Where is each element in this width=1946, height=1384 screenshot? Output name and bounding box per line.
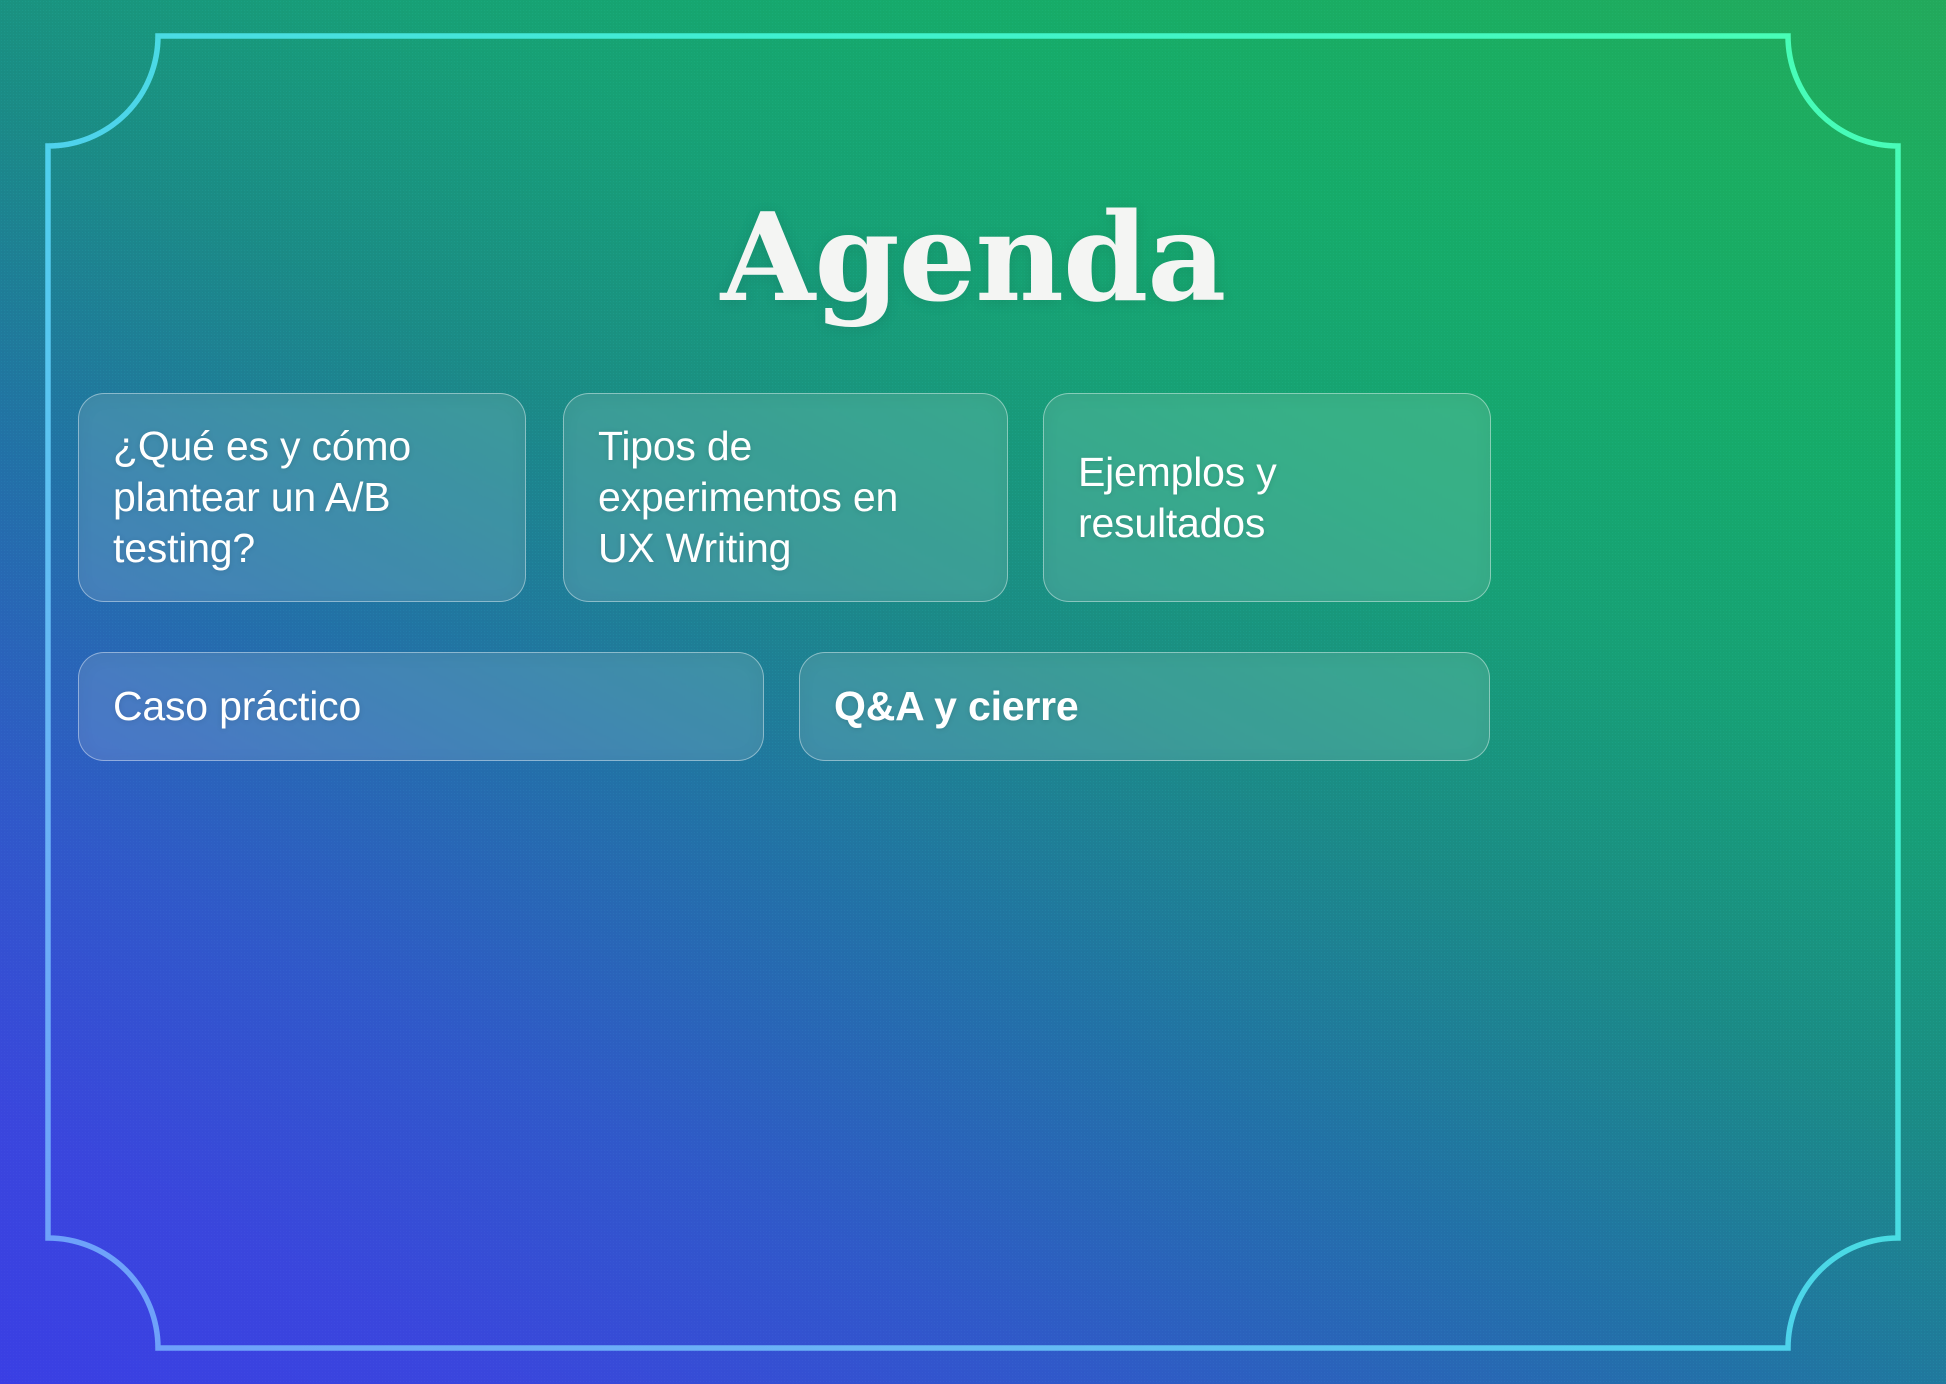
agenda-card-label: Caso práctico <box>113 681 361 732</box>
agenda-card-qa-y-cierre[interactable]: Q&A y cierre <box>799 652 1490 761</box>
agenda-card-label: ¿Qué es y cómo plantear un A/B testing? <box>113 421 491 573</box>
agenda-card-caso-practico[interactable]: Caso práctico <box>78 652 764 761</box>
agenda-card-label: Q&A y cierre <box>834 681 1078 732</box>
agenda-slide: Agenda ¿Qué es y cómo plantear un A/B te… <box>0 0 1946 1384</box>
agenda-card-ejemplos-y-resultados[interactable]: Ejemplos y resultados <box>1043 393 1491 602</box>
agenda-card-tipos-de-experimentos[interactable]: Tipos de experimentos en UX Writing <box>563 393 1008 602</box>
agenda-card-que-es-y-como-plantear[interactable]: ¿Qué es y cómo plantear un A/B testing? <box>78 393 526 602</box>
slide-title: Agenda <box>0 196 1946 318</box>
agenda-card-label: Ejemplos y resultados <box>1078 447 1456 549</box>
agenda-card-label: Tipos de experimentos en UX Writing <box>598 421 973 573</box>
